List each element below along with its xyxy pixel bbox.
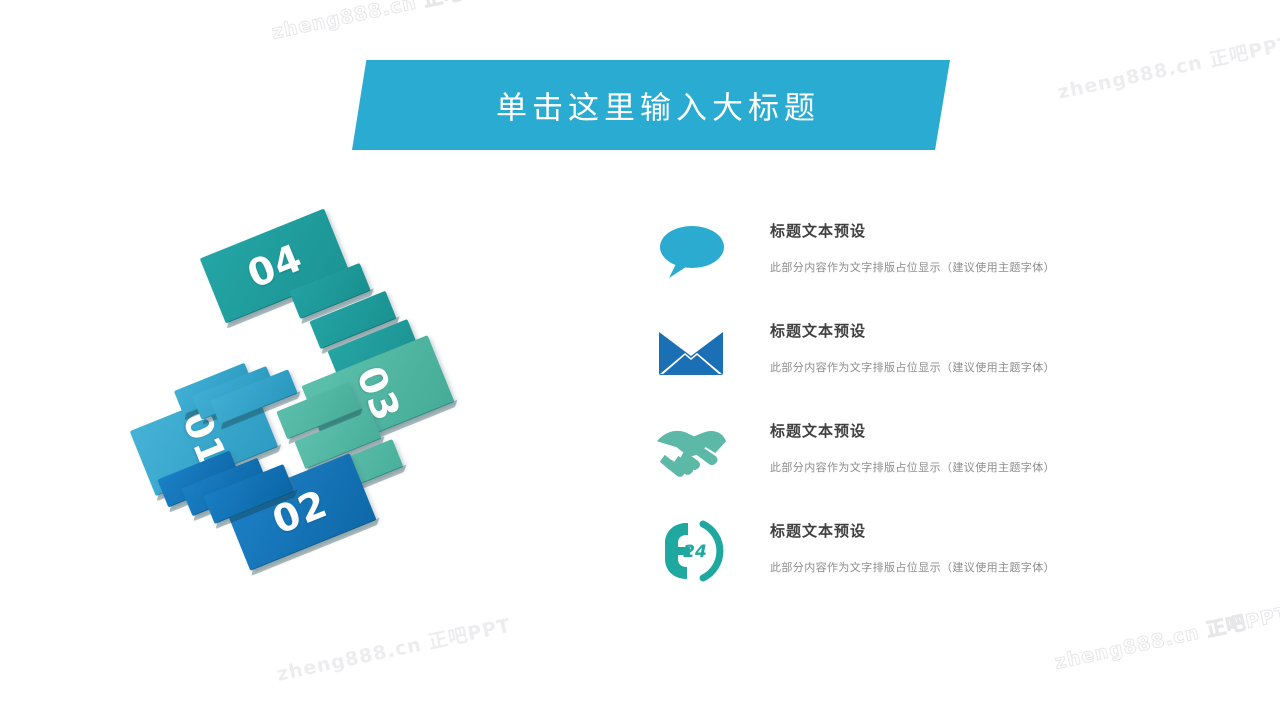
handshake-icon	[655, 420, 727, 482]
feature-body: 此部分内容作为文字排版占位显示（建议使用主题字体）	[770, 259, 1200, 275]
feature-heading: 标题文本预设	[770, 320, 1200, 341]
feature-item[interactable]: 标题文本预设 此部分内容作为文字排版占位显示（建议使用主题字体）	[655, 412, 1215, 512]
watermark-bottom-left: zheng888.cn 正吧PPT	[274, 611, 513, 687]
watermark-top-right: zheng888.cn 正吧PPT	[1055, 29, 1280, 105]
feature-item[interactable]: 标题文本预设 此部分内容作为文字排版占位显示（建议使用主题字体）	[655, 312, 1215, 412]
feature-heading: 标题文本预设	[770, 520, 1200, 541]
pinwheel-diagram: 04 03 01 02	[140, 228, 470, 584]
feature-body: 此部分内容作为文字排版占位显示（建议使用主题字体）	[770, 559, 1200, 575]
feature-heading: 标题文本预设	[770, 420, 1200, 441]
feature-body: 此部分内容作为文字排版占位显示（建议使用主题字体）	[770, 359, 1200, 375]
feature-text: 标题文本预设 此部分内容作为文字排版占位显示（建议使用主题字体）	[770, 420, 1200, 475]
feature-item[interactable]: 标题文本预设 此部分内容作为文字排版占位显示（建议使用主题字体）	[655, 212, 1215, 312]
phone-badge-24: 24	[683, 542, 707, 562]
watermark-top-left: zheng888.cn 正吧PPT	[269, 0, 508, 45]
phone-24h-icon: 24	[655, 520, 727, 582]
feature-heading: 标题文本预设	[770, 220, 1200, 241]
feature-text: 标题文本预设 此部分内容作为文字排版占位显示（建议使用主题字体）	[770, 220, 1200, 275]
feature-body: 此部分内容作为文字排版占位显示（建议使用主题字体）	[770, 459, 1200, 475]
feature-text: 标题文本预设 此部分内容作为文字排版占位显示（建议使用主题字体）	[770, 520, 1200, 575]
feature-list: 标题文本预设 此部分内容作为文字排版占位显示（建议使用主题字体） 标题文本预设 …	[655, 212, 1215, 612]
feature-item[interactable]: 24 标题文本预设 此部分内容作为文字排版占位显示（建议使用主题字体）	[655, 512, 1215, 612]
speech-bubble-icon	[655, 220, 727, 282]
feature-text: 标题文本预设 此部分内容作为文字排版占位显示（建议使用主题字体）	[770, 320, 1200, 375]
title-banner[interactable]: 单击这里输入大标题	[352, 60, 950, 150]
envelope-icon	[655, 320, 727, 382]
page-title: 单击这里输入大标题	[352, 83, 950, 128]
